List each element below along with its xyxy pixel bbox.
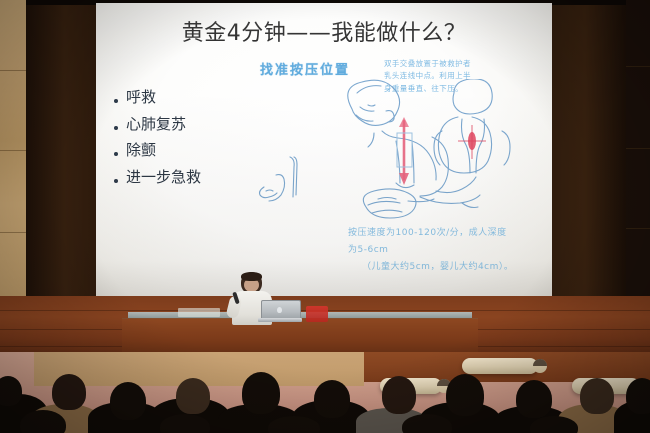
diagram-heading: 找准按压位置 (260, 59, 350, 78)
screen-frame-left-edge (26, 0, 96, 308)
silver-laptop (258, 300, 302, 324)
bullet-label: 呼救 (126, 89, 156, 106)
seated-audience-silhouettes (0, 352, 650, 433)
bullet-label: 进一步急救 (126, 169, 201, 186)
caption-line: 为5-6cm (348, 242, 552, 259)
caption-line-indent: （儿童大约5cm，婴儿大约4cm）。 (348, 259, 552, 276)
presenter-hair (241, 272, 262, 281)
note-line: 双手交叠放置于被救护者 (384, 58, 534, 70)
cpr-diagram: 找准按压位置 双手交叠放置于被救护者 乳头连线中点。利用上半 身重量垂直、往下压… (256, 53, 546, 288)
lecture-hall-photo: 黄金4分钟——我能做什么？ 呼救 心肺复苏 除颤 进一步急救 找准按压位置 (0, 0, 650, 433)
screen-frame-right-edge (552, 0, 626, 308)
bullet-dot-icon (114, 126, 118, 130)
laptop-base (258, 318, 302, 322)
diagram-caption: 按压速度为100-120次/分，成人深度 为5-6cm （儿童大约5cm，婴儿大… (348, 225, 552, 276)
compression-arrow-icon (397, 117, 412, 185)
bullet-label: 除颤 (126, 142, 156, 159)
bullet-dot-icon (114, 99, 118, 103)
bullet-dot-icon (114, 179, 118, 183)
red-desk-item (306, 306, 328, 322)
projected-slide: 黄金4分钟——我能做什么？ 呼救 心肺复苏 除颤 进一步急救 找准按压位置 (96, 3, 552, 296)
caption-line: 按压速度为100-120次/分，成人深度 (348, 225, 552, 242)
bullet-label: 心肺复苏 (126, 116, 186, 133)
bullet-dot-icon (114, 152, 118, 156)
cpr-line-art (256, 79, 546, 239)
laptop-logo-icon (277, 307, 282, 313)
paper-stack (178, 308, 220, 317)
slide-title: 黄金4分钟——我能做什么？ (96, 15, 552, 47)
